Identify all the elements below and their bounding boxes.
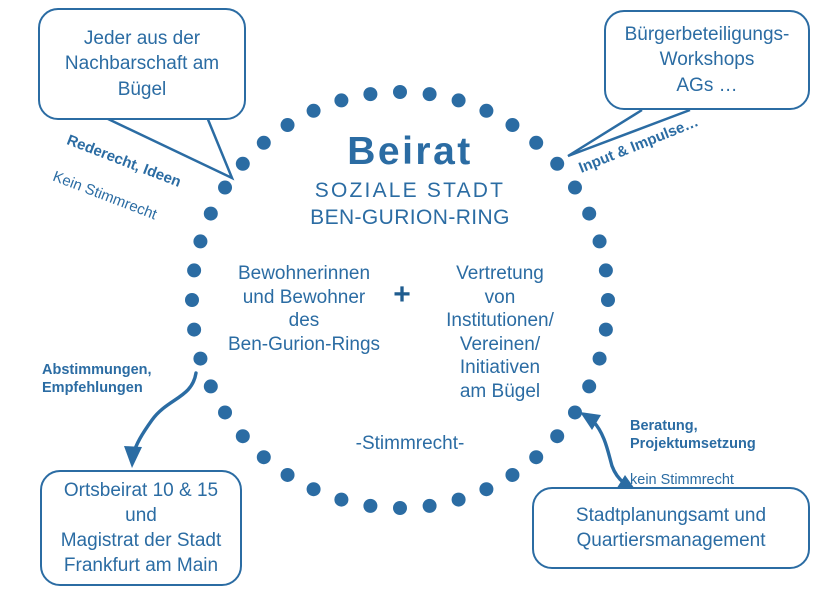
bubble-workshops[interactable]: Bürgerbeteiligungs- Workshops AGs …: [604, 10, 810, 110]
ring-dot: [204, 379, 218, 393]
ring-dot: [423, 87, 437, 101]
bubble-ortsbeirat[interactable]: Ortsbeirat 10 & 15 und Magistrat der Sta…: [40, 470, 242, 586]
arrowhead-beratung-up: [580, 412, 601, 430]
ring-dot: [393, 85, 407, 99]
ring-dot: [599, 263, 613, 277]
ring-dot: [334, 493, 348, 507]
annotation-beratung: Beratung, Projektumsetzung kein Stimmrec…: [630, 400, 802, 508]
ring-dot: [479, 482, 493, 496]
ring-dot: [599, 323, 613, 337]
ring-dot: [281, 468, 295, 482]
ring-dot: [218, 405, 232, 419]
annotation-abstimmungen: Abstimmungen, Empfehlungen: [42, 362, 192, 398]
ring-dot: [452, 493, 466, 507]
ring-dot: [307, 104, 321, 118]
ring-dot: [505, 468, 519, 482]
member-group-institutions: Vertretung von Institutionen/ Vereinen/ …: [427, 262, 573, 403]
bubble-neighbourhood[interactable]: Jeder aus der Nachbarschaft am Bügel: [38, 8, 246, 120]
plus-icon: +: [385, 276, 419, 313]
ring-dot: [187, 263, 201, 277]
ring-dot: [393, 501, 407, 515]
ring-dot: [593, 352, 607, 366]
ring-dot: [363, 499, 377, 513]
annotation-beratung-light: kein Stimmrecht: [630, 472, 802, 490]
ring-dot: [193, 352, 207, 366]
annotation-beratung-bold: Beratung, Projektumsetzung: [630, 418, 802, 454]
ring-dot: [187, 323, 201, 337]
ring-dot: [479, 104, 493, 118]
member-group-residents: Bewohnerinnen und Bewohner des Ben-Gurio…: [213, 262, 395, 356]
ring-dot: [423, 499, 437, 513]
ring-dot: [452, 93, 466, 107]
ring-dot: [568, 405, 582, 419]
ring-dot: [582, 379, 596, 393]
ring-dot: [307, 482, 321, 496]
ring-dot: [363, 87, 377, 101]
ring-dot: [593, 234, 607, 248]
diagram-canvas: Jeder aus der Nachbarschaft am Bügel Bür…: [0, 0, 820, 600]
ring-dot: [185, 293, 199, 307]
ring-dot: [334, 93, 348, 107]
ring-dot: [193, 234, 207, 248]
ring-dot: [601, 293, 615, 307]
